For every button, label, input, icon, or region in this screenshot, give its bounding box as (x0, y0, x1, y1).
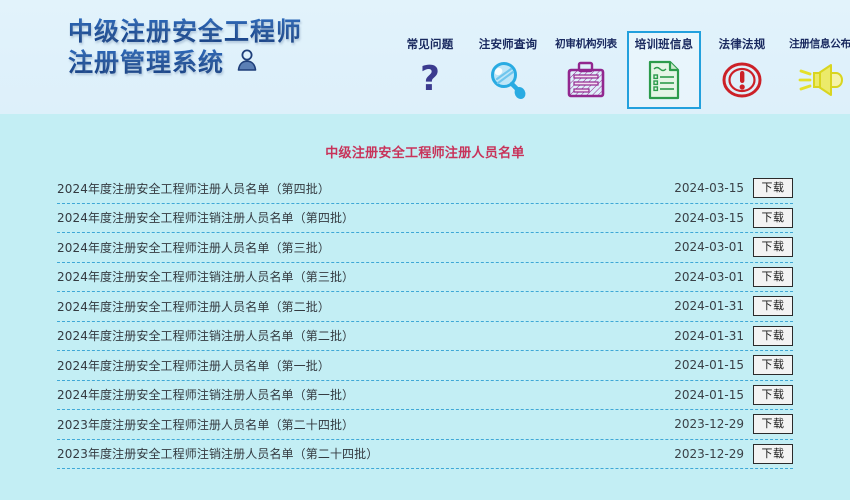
list-item-title[interactable]: 2024年度注册安全工程师注销注册人员名单（第四批） (57, 209, 674, 226)
megaphone-icon (797, 57, 843, 103)
list-item-date: 2023-12-29 (674, 447, 744, 461)
list-item-title[interactable]: 2024年度注册安全工程师注册人员名单（第三批） (57, 239, 674, 256)
list-item-date: 2024-01-15 (674, 358, 744, 372)
list-item[interactable]: 2023年度注册安全工程师注销注册人员名单（第二十四批）2023-12-29下载 (57, 445, 793, 470)
briefcase-badge-icon (563, 57, 609, 103)
download-button[interactable]: 下载 (753, 326, 793, 346)
nav-item-engineer-query[interactable]: 注安师查询 (471, 31, 545, 109)
list-item-date: 2024-01-31 (674, 299, 744, 313)
list-item-title[interactable]: 2023年度注册安全工程师注销注册人员名单（第二十四批） (57, 445, 674, 462)
list-item[interactable]: 2024年度注册安全工程师注销注册人员名单（第一批）2024-01-15下载 (57, 386, 793, 411)
list-item-title[interactable]: 2023年度注册安全工程师注册人员名单（第二十四批） (57, 416, 674, 433)
nav-label-laws: 法律法规 (719, 37, 766, 51)
list-item-date: 2024-03-01 (674, 240, 744, 254)
download-button[interactable]: 下载 (753, 444, 793, 464)
download-button[interactable]: 下载 (753, 208, 793, 228)
list-item-date: 2024-03-15 (674, 211, 744, 225)
list-item[interactable]: 2024年度注册安全工程师注册人员名单（第四批）2024-03-15下载 (57, 179, 793, 204)
list-item[interactable]: 2024年度注册安全工程师注销注册人员名单（第二批）2024-01-31下载 (57, 327, 793, 352)
list-item[interactable]: 2024年度注册安全工程师注销注册人员名单（第三批）2024-03-01下载 (57, 268, 793, 293)
nav-label-registration-announcement: 注册信息公布 (789, 37, 850, 51)
list-item-title[interactable]: 2024年度注册安全工程师注册人员名单（第四批） (57, 180, 674, 197)
question-mark-icon: ? (407, 57, 453, 103)
list-item-title[interactable]: 2024年度注册安全工程师注册人员名单（第一批） (57, 357, 674, 374)
nav-label-training-info: 培训班信息 (635, 37, 694, 51)
list-item[interactable]: 2024年度注册安全工程师注销注册人员名单（第四批）2024-03-15下载 (57, 209, 793, 234)
list-item-title[interactable]: 2024年度注册安全工程师注销注册人员名单（第一批） (57, 386, 674, 403)
nav-item-training-info[interactable]: 培训班信息 (627, 31, 701, 109)
download-button[interactable]: 下载 (753, 267, 793, 287)
svg-text:?: ? (420, 60, 440, 99)
brand-title-line-2-row: 注册管理系统 (68, 47, 368, 78)
registration-list: 2024年度注册安全工程师注册人员名单（第四批）2024-03-15下载2024… (57, 179, 793, 469)
exclamation-circle-icon (719, 57, 765, 103)
list-item-date: 2024-01-15 (674, 388, 744, 402)
user-person-icon (234, 47, 260, 78)
list-item-title[interactable]: 2024年度注册安全工程师注销注册人员名单（第二批） (57, 327, 674, 344)
list-item-date: 2024-03-01 (674, 270, 744, 284)
download-button[interactable]: 下载 (753, 237, 793, 257)
nav-item-institution-list[interactable]: 初审机构列表 (549, 31, 623, 109)
list-item-title[interactable]: 2024年度注册安全工程师注销注册人员名单（第三批） (57, 268, 674, 285)
nav-item-faq[interactable]: 常见问题 ? (393, 31, 467, 109)
list-item[interactable]: 2024年度注册安全工程师注册人员名单（第二批）2024-01-31下载 (57, 297, 793, 322)
site-header: 中级注册安全工程师 注册管理系统 常见问题 ? 注安师查询 (0, 0, 850, 114)
brand-title-line-1: 中级注册安全工程师 (68, 16, 368, 47)
nav-item-laws[interactable]: 法律法规 (705, 31, 779, 109)
list-item[interactable]: 2024年度注册安全工程师注册人员名单（第三批）2024-03-01下载 (57, 238, 793, 263)
magnifier-icon (485, 57, 531, 103)
brand-title-line-2: 注册管理系统 (68, 47, 224, 78)
list-item-date: 2024-01-31 (674, 329, 744, 343)
nav-label-institution-list: 初审机构列表 (555, 37, 617, 51)
brand-title-block: 中级注册安全工程师 注册管理系统 (68, 16, 368, 96)
main-navigation[interactable]: 常见问题 ? 注安师查询 初审机构列表 (393, 31, 850, 109)
download-button[interactable]: 下载 (753, 296, 793, 316)
download-button[interactable]: 下载 (753, 385, 793, 405)
nav-item-registration-announcement[interactable]: 注册信息公布 (783, 31, 850, 109)
checklist-document-icon (641, 57, 687, 103)
download-button[interactable]: 下载 (753, 178, 793, 198)
list-item[interactable]: 2023年度注册安全工程师注册人员名单（第二十四批）2023-12-29下载 (57, 415, 793, 440)
nav-label-faq: 常见问题 (407, 37, 454, 51)
main-content: 中级注册安全工程师注册人员名单 2024年度注册安全工程师注册人员名单（第四批）… (0, 114, 850, 500)
list-item-date: 2024-03-15 (674, 181, 744, 195)
list-item[interactable]: 2024年度注册安全工程师注册人员名单（第一批）2024-01-15下载 (57, 356, 793, 381)
download-button[interactable]: 下载 (753, 355, 793, 375)
page-title: 中级注册安全工程师注册人员名单 (0, 114, 850, 161)
list-item-date: 2023-12-29 (674, 417, 744, 431)
nav-label-engineer-query: 注安师查询 (479, 37, 538, 51)
list-item-title[interactable]: 2024年度注册安全工程师注册人员名单（第二批） (57, 298, 674, 315)
download-button[interactable]: 下载 (753, 414, 793, 434)
